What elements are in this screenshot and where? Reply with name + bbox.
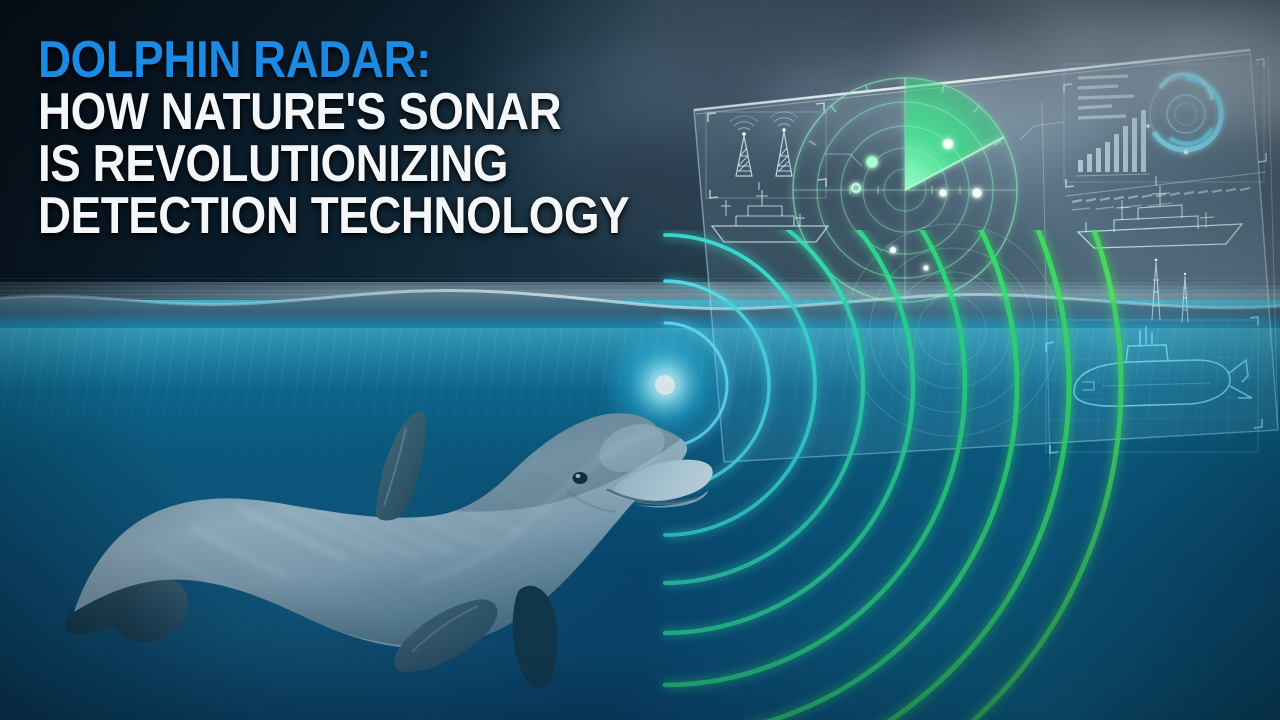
dolphin-body <box>60 330 700 710</box>
title-line-4: DETECTION TECHNOLOGY <box>38 190 584 242</box>
title-line-1: DOLPHIN RADAR: <box>38 34 584 86</box>
dolphin-rear-fin <box>513 586 558 689</box>
title-line-3: IS REVOLUTIONIZING <box>38 138 584 190</box>
thumbnail-canvas: DOLPHIN RADAR: HOW NATURE'S SONAR IS REV… <box>0 0 1280 720</box>
bottlenose-dolphin <box>60 330 760 710</box>
title-line-2: HOW NATURE'S SONAR <box>38 86 584 138</box>
dolphin-dorsal-fin <box>376 411 426 520</box>
page-title: DOLPHIN RADAR: HOW NATURE'S SONAR IS REV… <box>38 34 658 242</box>
dolphin-eye <box>573 472 588 484</box>
